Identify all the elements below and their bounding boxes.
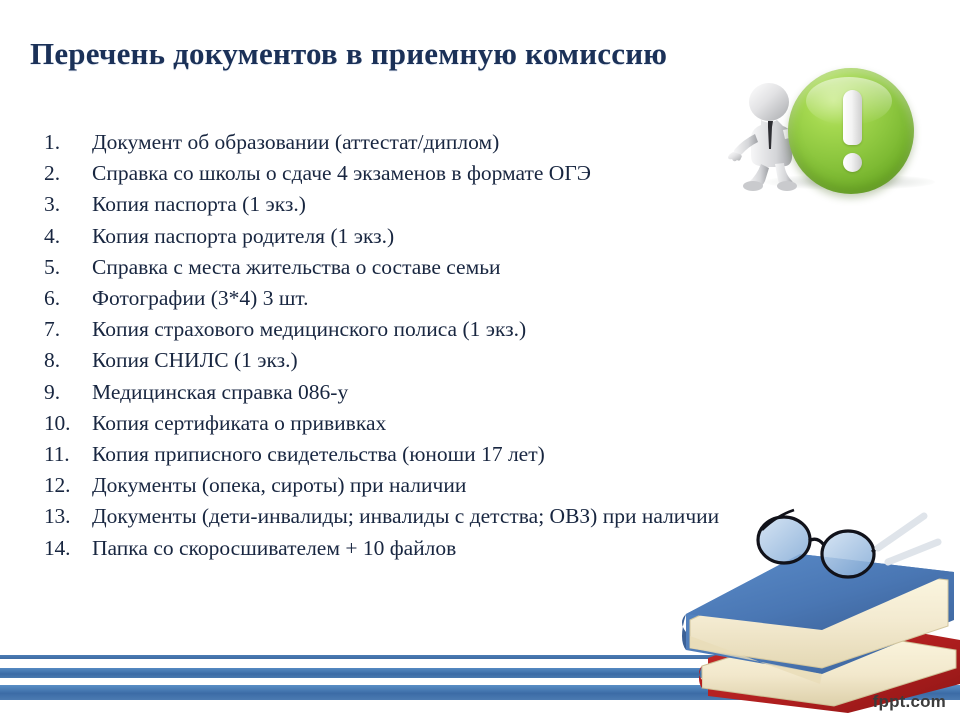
list-item: 6. Фотографии (3*4) 3 шт. bbox=[44, 283, 924, 314]
list-item-text: Медицинская справка 086-у bbox=[92, 377, 348, 408]
list-item: 7. Копия страхового медицинского полиса … bbox=[44, 314, 924, 345]
list-item-text: Папка со скоросшивателем + 10 файлов bbox=[92, 533, 456, 564]
slide-canvas: Перечень документов в приемную комиссию … bbox=[0, 0, 960, 720]
list-item-text: Копия приписного свидетельства (юноши 17… bbox=[92, 439, 545, 470]
green-exclamation-circle-icon bbox=[725, 62, 940, 197]
list-item: 5. Справка с места жительства о составе … bbox=[44, 252, 924, 283]
watermark: fppt.com bbox=[873, 692, 946, 712]
list-item-number: 10. bbox=[44, 408, 92, 439]
list-item-text: Документы (опека, сироты) при наличии bbox=[92, 470, 466, 501]
list-item-number: 14. bbox=[44, 533, 92, 564]
list-item-number: 9. bbox=[44, 377, 92, 408]
list-item-number: 5. bbox=[44, 252, 92, 283]
list-item-number: 1. bbox=[44, 127, 92, 158]
list-item-number: 11. bbox=[44, 439, 92, 470]
list-item-text: Копия паспорта родителя (1 экз.) bbox=[92, 221, 394, 252]
list-item-text: Копия паспорта (1 экз.) bbox=[92, 189, 306, 220]
list-item-number: 7. bbox=[44, 314, 92, 345]
exclamation-circle-shape bbox=[788, 68, 914, 194]
exclamation-dot bbox=[843, 153, 862, 172]
exclamation-bar bbox=[843, 90, 862, 145]
list-item-text: Копия СНИЛС (1 экз.) bbox=[92, 345, 298, 376]
list-item: 11. Копия приписного свидетельства (юнош… bbox=[44, 439, 924, 470]
list-item-text: Фотографии (3*4) 3 шт. bbox=[92, 283, 309, 314]
list-item-number: 3. bbox=[44, 189, 92, 220]
list-item-text: Копия страхового медицинского полиса (1 … bbox=[92, 314, 526, 345]
list-item: 12. Документы (опека, сироты) при наличи… bbox=[44, 470, 924, 501]
list-item-number: 13. bbox=[44, 501, 92, 532]
list-item: 9. Медицинская справка 086-у bbox=[44, 377, 924, 408]
list-item-number: 12. bbox=[44, 470, 92, 501]
book-stack-icon bbox=[672, 508, 960, 713]
list-item: 4. Копия паспорта родителя (1 экз.) bbox=[44, 221, 924, 252]
list-item: 10. Копия сертификата о прививках bbox=[44, 408, 924, 439]
page-title: Перечень документов в приемную комиссию bbox=[30, 36, 830, 72]
list-item-text: Копия сертификата о прививках bbox=[92, 408, 386, 439]
list-item-text: Документы (дети-инвалиды; инвалиды с дет… bbox=[92, 501, 719, 532]
list-item-text: Справка с места жительства о составе сем… bbox=[92, 252, 501, 283]
list-item-number: 8. bbox=[44, 345, 92, 376]
list-item-number: 4. bbox=[44, 221, 92, 252]
list-item: 8. Копия СНИЛС (1 экз.) bbox=[44, 345, 924, 376]
list-item-number: 2. bbox=[44, 158, 92, 189]
list-item-text: Справка со школы о сдаче 4 экзаменов в ф… bbox=[92, 158, 591, 189]
list-item-number: 6. bbox=[44, 283, 92, 314]
list-item-text: Документ об образовании (аттестат/диплом… bbox=[92, 127, 499, 158]
